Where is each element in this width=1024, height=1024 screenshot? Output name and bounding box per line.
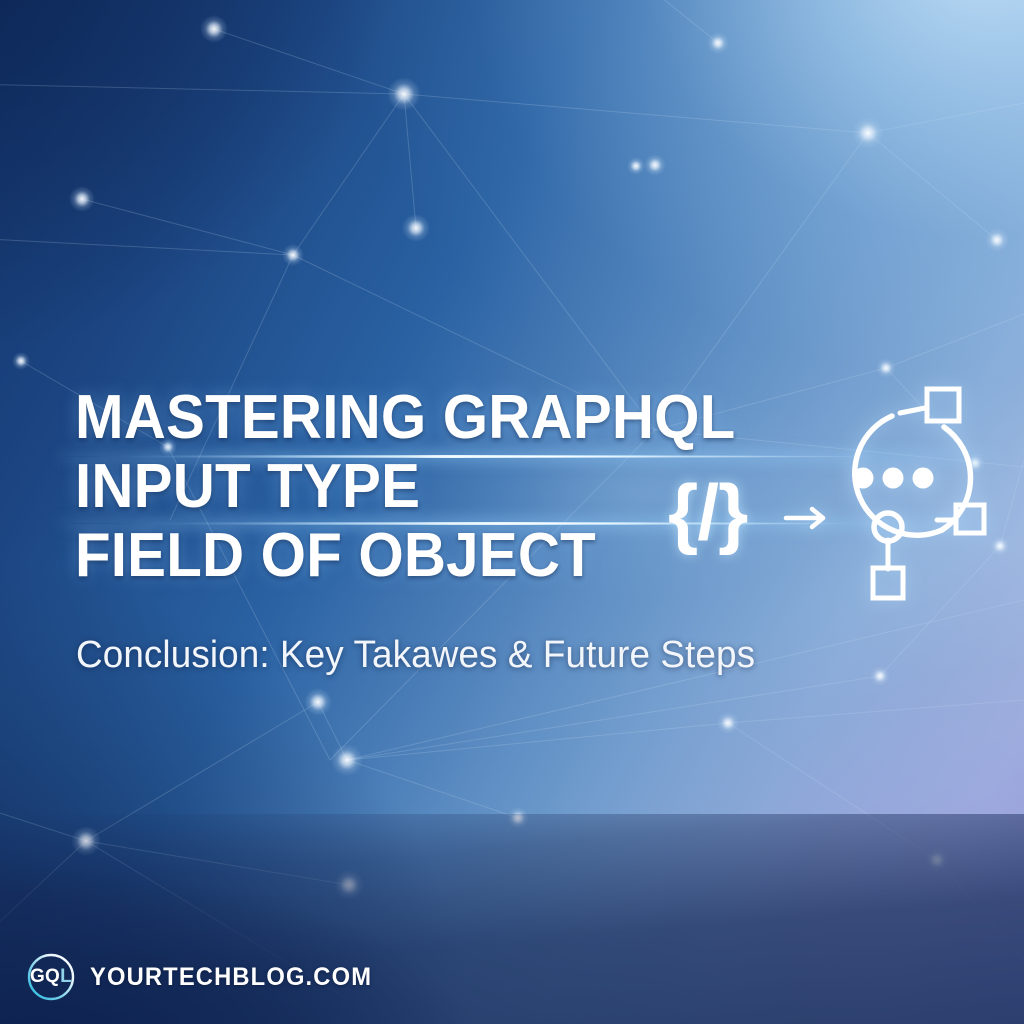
page-subtitle: Conclusion: Key Takawes & Future Steps [76,633,755,677]
arrow-right-icon [786,509,823,527]
gql-logo-icon[interactable]: GQL [26,952,76,1002]
logo-letter-l: L [60,966,72,988]
logo-letter-g: G [30,966,45,988]
graphql-node-graphic [660,380,1000,610]
ellipsis-dots-icon [853,468,934,489]
logo-letter-q: Q [45,966,60,988]
title-card-canvas: MASTERING GRAPHQL INPUT TYPE FIELD OF OB… [0,0,1024,1024]
footer-brand[interactable]: GQL YOURTECHBLOG.COM [26,952,387,1002]
title-line-3: FIELD OF OBJECT [75,521,735,590]
site-name-label: YOURTECHBLOG.COM [90,963,372,992]
title-line-1: MASTERING GRAPHQL [75,383,735,452]
title-line-2: INPUT TYPE [75,452,735,521]
